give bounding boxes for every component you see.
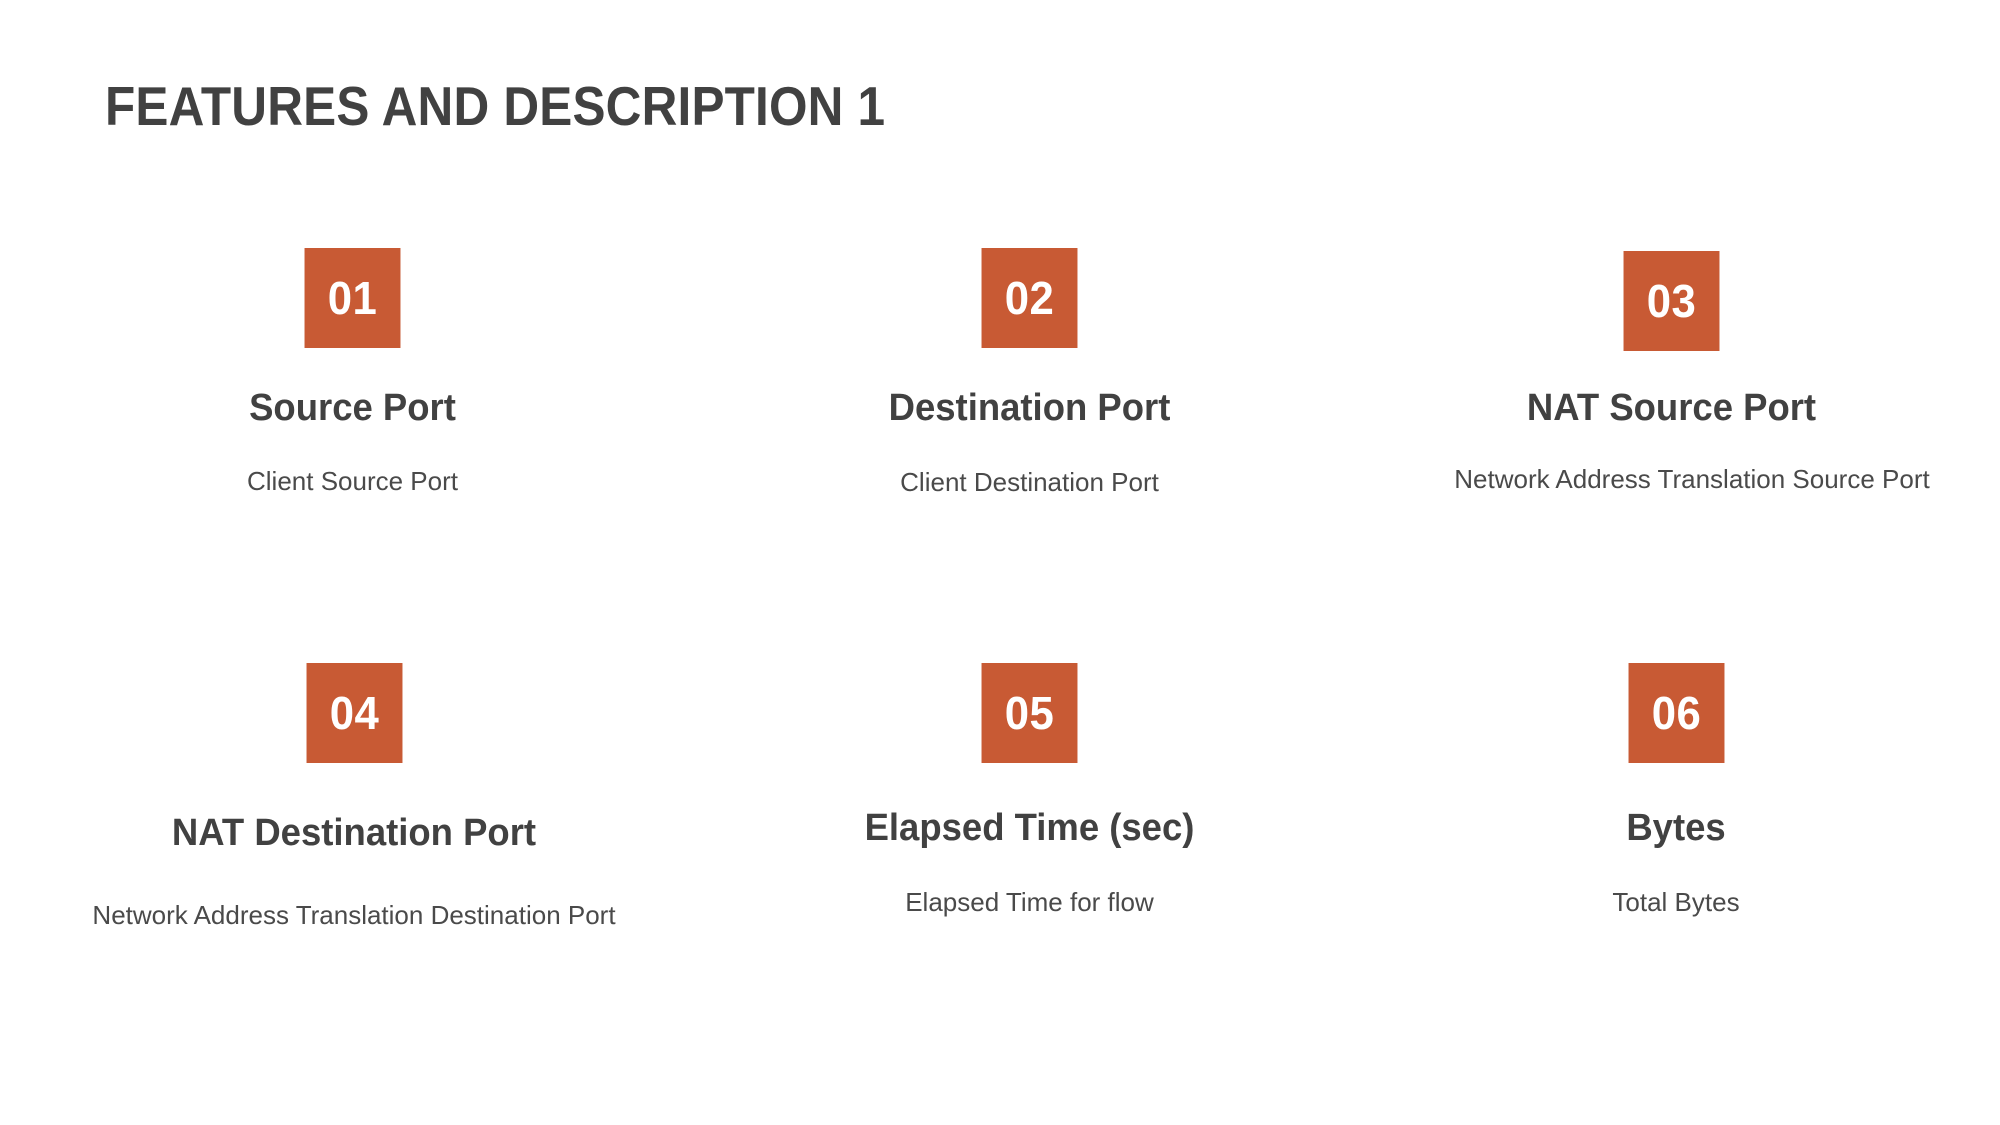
- number-badge-04: 04: [306, 663, 402, 763]
- feature-heading-04: NAT Destination Port: [89, 812, 619, 856]
- feature-description-05: Elapsed Time for flow: [779, 884, 1280, 921]
- feature-cell-06: 06 Bytes Total Bytes: [1401, 663, 1901, 921]
- feature-cell-02: 02 Destination Port Client Destination P…: [780, 248, 1280, 501]
- feature-description-02: Client Destination Port: [779, 464, 1280, 501]
- feature-description-04: Network Address Translation Destination …: [78, 889, 630, 942]
- feature-cell-04: 04 NAT Destination Port Network Address …: [130, 663, 630, 942]
- feature-grid: 01 Source Port Client Source Port 02 Des…: [0, 0, 2000, 1125]
- number-badge-02: 02: [982, 248, 1078, 348]
- feature-heading-06: Bytes: [1460, 807, 1892, 851]
- feature-cell-01: 01 Source Port Client Source Port: [128, 248, 628, 500]
- feature-description-03: Network Address Translation Source Port: [1437, 461, 1947, 498]
- badge-wrap-06: 06: [1451, 663, 1901, 763]
- badge-wrap-04: 04: [78, 663, 630, 763]
- number-badge-05: 05: [982, 663, 1078, 763]
- feature-description-06: Total Bytes: [1451, 884, 1901, 921]
- feature-heading-03: NAT Source Port: [1446, 387, 1896, 431]
- feature-description-01: Client Source Port: [77, 463, 628, 500]
- feature-cell-05: 05 Elapsed Time (sec) Elapsed Time for f…: [780, 663, 1280, 921]
- number-badge-03: 03: [1624, 251, 1720, 351]
- feature-heading-01: Source Port: [88, 387, 617, 431]
- number-badge-01: 01: [304, 248, 400, 348]
- badge-wrap-05: 05: [779, 663, 1280, 763]
- slide-canvas: FEATURES AND DESCRIPTION 1 01 Source Por…: [0, 0, 2000, 1125]
- badge-wrap-01: 01: [76, 248, 628, 348]
- badge-wrap-02: 02: [779, 248, 1280, 348]
- badge-wrap-03: 03: [1437, 251, 1906, 351]
- feature-cell-03: 03 NAT Source Port Network Address Trans…: [1396, 251, 1906, 498]
- feature-heading-05: Elapsed Time (sec): [789, 807, 1270, 851]
- feature-heading-02: Destination Port: [789, 387, 1270, 431]
- number-badge-06: 06: [1628, 663, 1724, 763]
